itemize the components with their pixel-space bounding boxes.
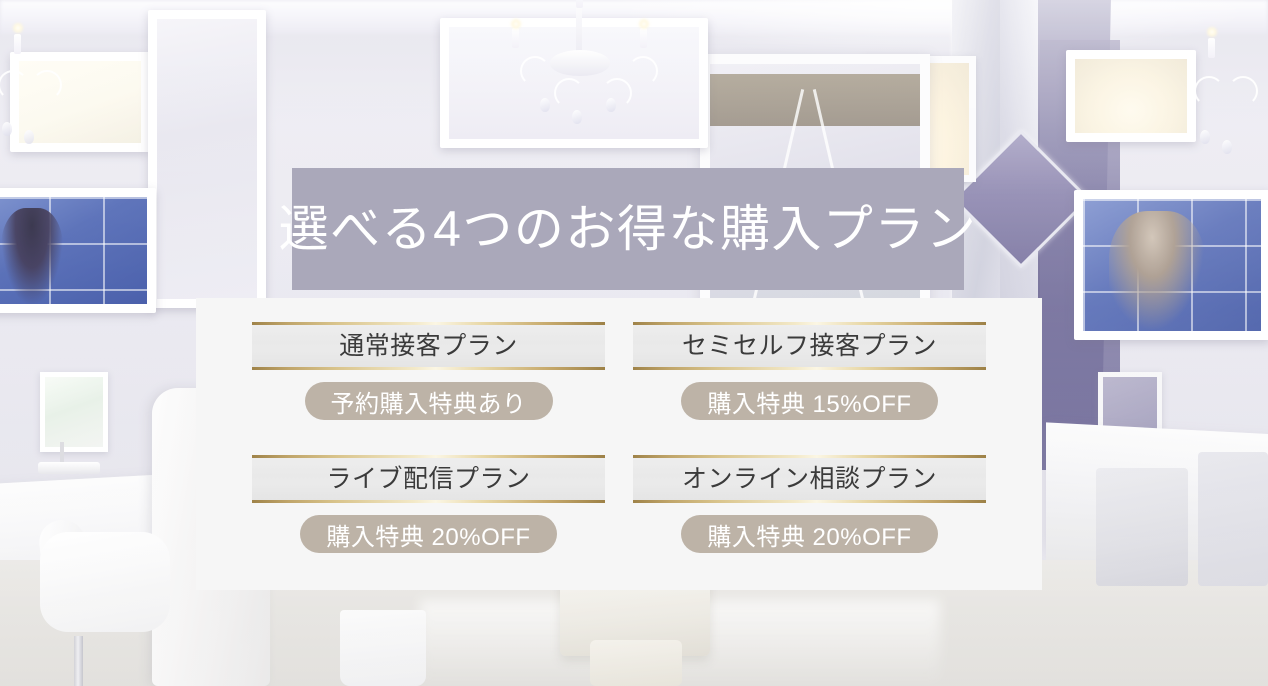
plan-card-semi-self[interactable]: セミセルフ接客プラン 購入特典 15%OFF [633,322,986,431]
purchase-plans-grid: 通常接客プラン 予約購入特典あり セミセルフ接客プラン 購入特典 15%OFF … [196,298,1042,590]
plan-card-online-consultation[interactable]: オンライン相談プラン 購入特典 20%OFF [633,455,986,564]
hero-banner-image: 選べる4つのお得な購入プラン 通常接客プラン 予約購入特典あり セミセルフ接客プ… [0,0,1268,686]
plan-title: セミセルフ接客プラン [682,334,937,359]
plan-header: ライブ配信プラン [252,455,605,503]
purchase-plans-panel: 通常接客プラン 予約購入特典あり セミセルフ接客プラン 購入特典 15%OFF … [196,298,1042,590]
plan-title: 通常接客プラン [339,334,518,359]
plan-header: オンライン相談プラン [633,455,986,503]
plan-header: 通常接客プラン [252,322,605,370]
plan-benefit-badge: 購入特典 15%OFF [681,382,937,420]
plan-benefit-badge: 購入特典 20%OFF [681,515,937,553]
plan-benefit-badge: 購入特典 20%OFF [300,515,556,553]
plan-title: オンライン相談プラン [682,467,937,492]
plan-title: ライブ配信プラン [326,467,530,492]
plan-header: セミセルフ接客プラン [633,322,986,370]
hero-title: 選べる4つのお得な購入プラン [279,204,978,254]
plan-benefit-badge: 予約購入特典あり [305,382,553,420]
plan-card-live-stream[interactable]: ライブ配信プラン 購入特典 20%OFF [252,455,605,564]
hero-title-banner: 選べる4つのお得な購入プラン [292,168,964,290]
plan-card-normal[interactable]: 通常接客プラン 予約購入特典あり [252,322,605,431]
